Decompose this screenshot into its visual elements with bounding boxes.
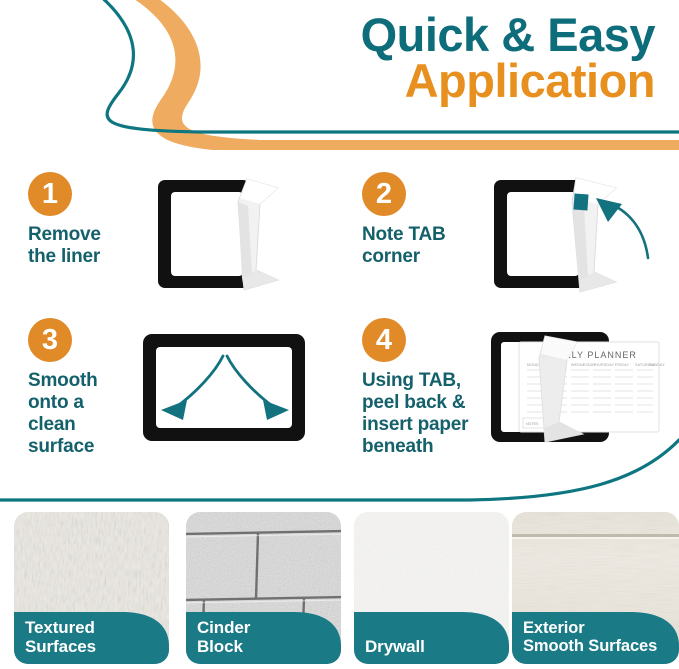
- section-divider: [0, 438, 679, 518]
- step-3-illustration: [139, 330, 309, 450]
- surface-card-cinder-block[interactable]: CinderBlock: [186, 512, 341, 664]
- surface-cards-row: TexturedSurfaces: [0, 512, 679, 669]
- tab-corner-marker: [573, 194, 588, 211]
- infographic-page: Quick & Easy Application 1 Removethe lin…: [0, 0, 679, 669]
- surface-card-label: CinderBlock: [197, 618, 250, 656]
- frame-with-diverging-arrows-icon: [139, 330, 309, 445]
- step-1-badge: 1: [28, 172, 72, 216]
- step-2-text: 2 Note TABcorner: [362, 172, 482, 268]
- step-2: 2 Note TABcorner: [348, 172, 678, 312]
- divider-curve: [0, 438, 679, 518]
- step-4-badge: 4: [362, 318, 406, 362]
- planner-notes-label: NOTES: [526, 422, 539, 426]
- surface-card-label: TexturedSurfaces: [25, 618, 96, 656]
- title-line-2: Application: [361, 58, 655, 104]
- page-title: Quick & Easy Application: [361, 12, 655, 103]
- frame-with-tab-corner-icon: [488, 174, 663, 304]
- step-1-label: Removethe liner: [28, 224, 148, 268]
- planner-day-6: SUNDAY: [649, 363, 665, 367]
- step-2-illustration: [488, 174, 663, 309]
- planner-day-4: FRIDAY: [615, 363, 630, 367]
- step-2-badge: 2: [362, 172, 406, 216]
- planner-day-3: THURSDAY: [593, 363, 615, 367]
- step-3-badge: 3: [28, 318, 72, 362]
- frame-with-peeled-liner-icon: [152, 174, 302, 304]
- title-line-1: Quick & Easy: [361, 12, 655, 58]
- step-1-illustration: [152, 174, 302, 309]
- step-1-text: 1 Removethe liner: [28, 172, 148, 268]
- surface-card-label: ExteriorSmooth Surfaces: [523, 619, 657, 656]
- header-banner: Quick & Easy Application: [0, 0, 679, 148]
- surface-card-textured[interactable]: TexturedSurfaces: [14, 512, 169, 664]
- frame-with-weekly-planner-icon: WEEKLY PLANNER: [483, 326, 668, 456]
- step-1: 1 Removethe liner: [14, 172, 344, 312]
- surface-card-exterior-smooth[interactable]: ExteriorSmooth Surfaces: [512, 512, 679, 664]
- step-2-label: Note TABcorner: [362, 224, 482, 268]
- surface-card-drywall[interactable]: Drywall: [354, 512, 509, 664]
- surface-card-label: Drywall: [365, 637, 425, 656]
